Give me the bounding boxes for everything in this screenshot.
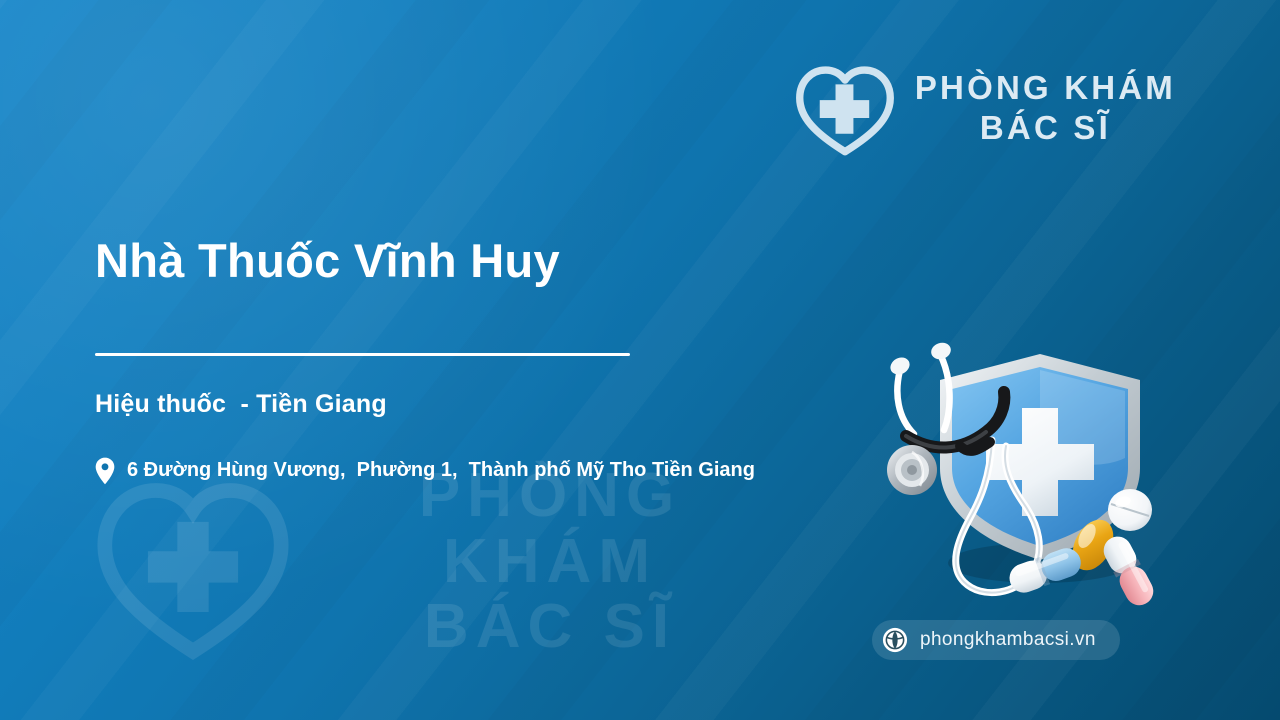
website-badge[interactable]: phongkhambacsi.vn: [872, 620, 1120, 660]
page-title: Nhà Thuốc Vĩnh Huy: [95, 233, 560, 288]
website-label: phongkhambacsi.vn: [920, 629, 1096, 651]
map-pin-icon: [95, 457, 115, 485]
watermark-text: PHÒNG KHÁM BÁC SĨ: [300, 463, 800, 660]
brand-text: PHÒNG KHÁM BÁC SĨ: [915, 68, 1176, 149]
address-row: 6 Đường Hùng Vương, Phường 1, Thành phố …: [95, 455, 795, 485]
watermark: PHÒNG KHÁM BÁC SĨ: [95, 455, 795, 685]
address-text: 6 Đường Hùng Vương, Phường 1, Thành phố …: [127, 455, 755, 485]
brand-line-1: PHÒNG KHÁM: [915, 68, 1176, 108]
clinic-banner: PHÒNG KHÁM BÁC SĨ PHÒNG KHÁM BÁC SĨ Nhà …: [0, 0, 1280, 720]
globe-icon: [882, 627, 908, 653]
brand-logo: PHÒNG KHÁM BÁC SĨ: [791, 58, 1176, 158]
medical-cross-heart-watermark-icon: [95, 467, 291, 663]
medical-illustration: [840, 318, 1190, 618]
watermark-line-2: BÁC SĨ: [300, 594, 800, 660]
background-glow: [0, 0, 800, 640]
medical-cross-heart-icon: [791, 58, 899, 158]
brand-line-2: BÁC SĨ: [915, 108, 1176, 148]
title-divider: [95, 353, 630, 356]
subtitle: Hiệu thuốc - Tiền Giang: [95, 390, 387, 419]
